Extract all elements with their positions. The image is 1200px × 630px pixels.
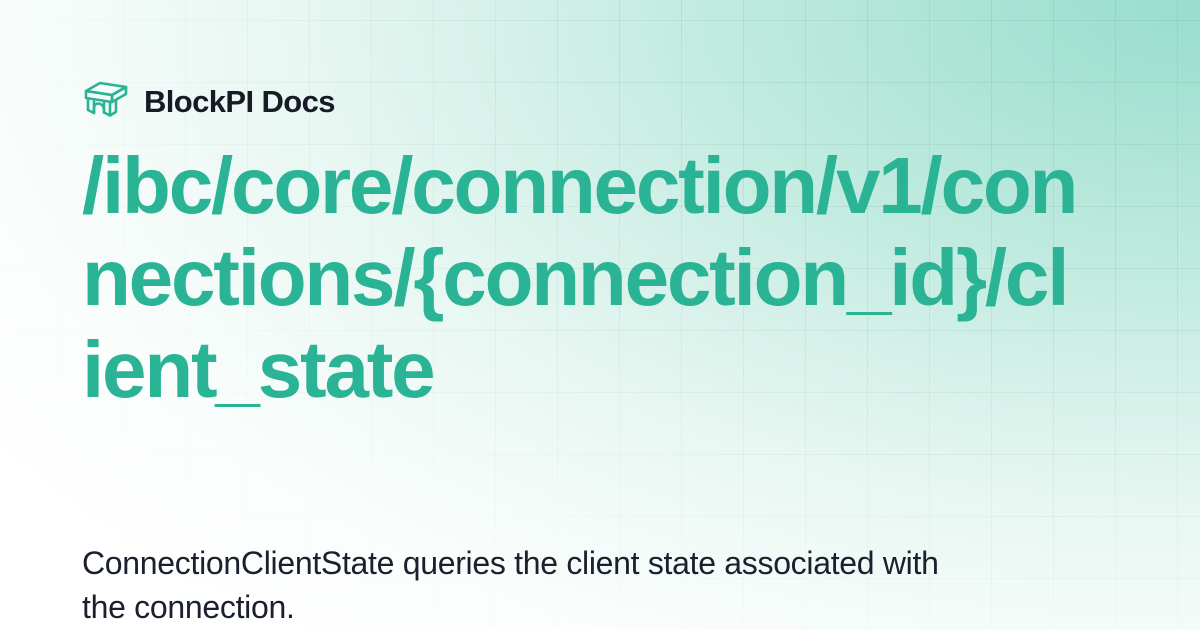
page-description: ConnectionClientState queries the client… bbox=[82, 541, 942, 629]
page-title: /ibc/core/connection/v1/connections/{con… bbox=[82, 140, 1082, 416]
blockpi-logo-icon bbox=[82, 79, 130, 123]
brand-header: BlockPI Docs bbox=[82, 78, 1120, 124]
og-card: BlockPI Docs /ibc/core/connection/v1/con… bbox=[0, 0, 1200, 630]
brand-name: BlockPI Docs bbox=[144, 86, 335, 117]
